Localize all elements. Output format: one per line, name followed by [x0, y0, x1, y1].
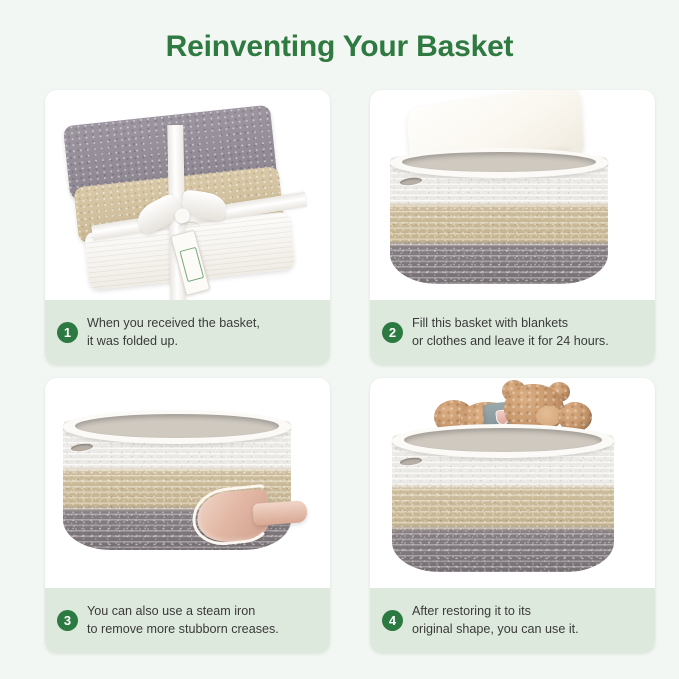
step-4-badge: 4 — [382, 610, 403, 631]
step-4-caption: 4 After restoring it to its original sha… — [370, 588, 655, 653]
step-card-2: 2 Fill this basket with blankets or clot… — [370, 90, 655, 365]
step-4-caption-text: After restoring it to its original shape… — [412, 603, 579, 639]
page-title: Reinventing Your Basket — [0, 30, 679, 64]
step-2-badge: 2 — [382, 322, 403, 343]
step-1-photo — [45, 90, 330, 300]
step-1-caption-text: When you received the basket, it was fol… — [87, 315, 260, 351]
basket-opening-4 — [404, 428, 602, 452]
iron-handle — [252, 500, 307, 526]
step-1-badge: 1 — [57, 322, 78, 343]
step-card-4: 4 After restoring it to its original sha… — [370, 378, 655, 653]
step-4-photo — [370, 378, 655, 588]
step-3-photo — [45, 378, 330, 588]
basket-opening-2 — [402, 152, 596, 172]
step-2-photo — [370, 90, 655, 300]
step-1-caption: 1 When you received the basket, it was f… — [45, 300, 330, 365]
step-card-3: 3 You can also use a steam iron to remov… — [45, 378, 330, 653]
basket-opening-3 — [75, 414, 279, 438]
brand-logo-icon — [179, 247, 204, 282]
step-3-badge: 3 — [57, 610, 78, 631]
steps-grid: 1 When you received the basket, it was f… — [45, 90, 655, 655]
steam-iron — [195, 480, 307, 545]
step-2-caption-text: Fill this basket with blankets or clothe… — [412, 315, 609, 351]
step-3-caption-text: You can also use a steam iron to remove … — [87, 603, 279, 639]
folded-basket-illustration — [63, 103, 307, 294]
step-2-caption: 2 Fill this basket with blankets or clot… — [370, 300, 655, 365]
step-card-1: 1 When you received the basket, it was f… — [45, 90, 330, 365]
step-3-caption: 3 You can also use a steam iron to remov… — [45, 588, 330, 653]
